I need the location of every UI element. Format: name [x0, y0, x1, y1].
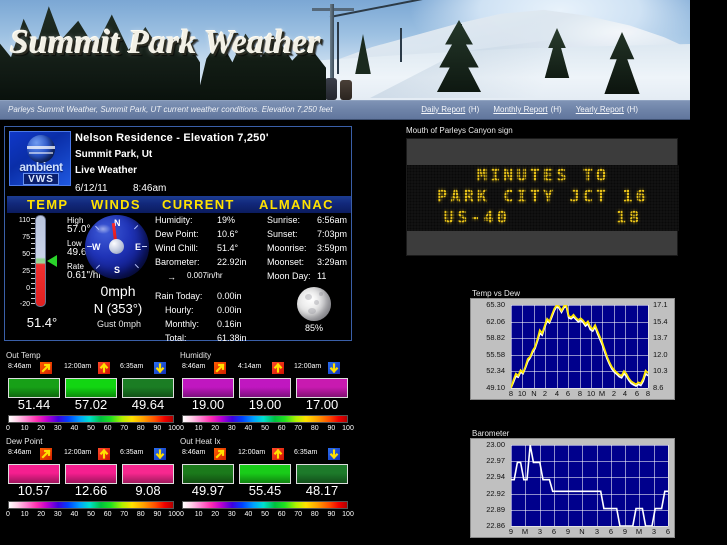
vws-live-weather-panel: ambient VWS Nelson Residence - Elevation… — [4, 126, 352, 341]
sunset-value: 7:03pm — [317, 229, 347, 239]
sunset-label: Sunset: — [267, 229, 298, 239]
gauge-tick: 0 — [1, 511, 15, 518]
moonset-label: Moonset: — [267, 257, 304, 267]
thermometer-scale-label: -20 — [20, 301, 30, 308]
rain-today-value: 0.00in — [217, 291, 242, 301]
daily-report-h[interactable]: (H) — [468, 105, 479, 114]
gauge-title: Dew Point — [6, 437, 42, 446]
moonrise-label: Moonrise: — [267, 243, 307, 253]
gauge-bar-2 — [122, 378, 174, 398]
gauge-bars — [180, 378, 350, 398]
site-description: Parleys Summit Weather, Summit Park, UT … — [8, 105, 332, 114]
gauge-tick: 10 — [192, 425, 206, 432]
wind-direction-value: N (353°) — [69, 301, 167, 316]
almanac-list: Sunrise:6:56am Sunset:7:03pm Moonrise:3:… — [267, 215, 357, 285]
gauge-tick: 100 — [341, 511, 355, 518]
gauge-scale-ticks: 0102030405060708090100 — [180, 511, 352, 521]
trend-up-right-icon — [214, 448, 226, 460]
barometer-trend-row: →0.007in/hr — [155, 271, 263, 285]
gauge-time-0: 8:46am — [182, 449, 205, 456]
gauge-timestamps: 8:46am12:00am6:35am — [180, 449, 350, 461]
chart-y2-tick: 10.3 — [653, 366, 668, 375]
chart-y2-tick: 8.6 — [653, 383, 663, 392]
current-row: Humidity:19% — [155, 215, 263, 229]
chart-x-tick: 9 — [563, 527, 573, 536]
gauge-time-2: 6:35am — [294, 449, 317, 456]
gauge-tick: 10 — [18, 511, 32, 518]
chart-series-line — [511, 305, 648, 388]
gauge-tick: 40 — [241, 425, 255, 432]
trend-down-icon — [154, 448, 166, 460]
compass-tick — [96, 265, 100, 269]
gauge-tick: 40 — [67, 425, 81, 432]
site-title: Summit Park Weather — [10, 24, 320, 62]
temperature-current-value: 51.4° — [11, 315, 73, 330]
chart-y-tick: 22.94 — [486, 472, 505, 481]
gauge-value-1: 57.02 — [65, 397, 117, 412]
gauge-tick: 20 — [34, 425, 48, 432]
current-row: Barometer:22.92in — [155, 257, 263, 271]
gauge-color-scale — [182, 501, 348, 509]
gauge-tick: 80 — [308, 511, 322, 518]
rain-row: Hourly:0.00in — [155, 305, 263, 319]
thermometer-indicator-arrow — [47, 255, 57, 267]
rain-row: Monthly:0.16in — [155, 319, 263, 333]
almanac-row: Moon Day:11 — [267, 271, 357, 285]
moon-illumination-percent: 85% — [287, 323, 341, 333]
humidity-value: 19% — [217, 215, 235, 225]
compass-hub — [109, 239, 124, 254]
rain-monthly-value: 0.16in — [217, 319, 242, 329]
gauge-tick: 0 — [175, 425, 189, 432]
chart-x-tick: 6 — [663, 527, 673, 536]
current-conditions-list: Humidity:19% Dew Point:10.6° Wind Chill:… — [155, 215, 263, 347]
moonset-value: 3:29am — [317, 257, 347, 267]
barometer-chart: 23.0022.9722.9422.9222.8922.869M369N369M… — [470, 438, 675, 538]
gauge-bar-0 — [8, 464, 60, 484]
chart-y-axis-labels: 65.3062.0658.8255.5852.3449.10 — [471, 305, 507, 388]
gauge-time-1: 12:00am — [64, 363, 91, 370]
gauge-tick: 70 — [117, 425, 131, 432]
column-header-current: CURRENT — [162, 197, 235, 212]
chart-y-tick: 62.06 — [486, 317, 505, 326]
column-header-bar: TEMP WINDS CURRENT ALMANAC — [7, 196, 351, 213]
moonday-label: Moon Day: — [267, 271, 311, 281]
almanac-row: Sunrise:6:56am — [267, 215, 357, 229]
windchill-label: Wind Chill: — [155, 243, 198, 253]
gauge-tick: 30 — [51, 425, 65, 432]
gauge-time-2: 12:00am — [294, 363, 321, 370]
chart-gridline — [668, 445, 669, 526]
thermometer-gauge: 1107550250-20 — [11, 215, 63, 315]
chairlift-hanger — [400, 28, 402, 62]
chart-x-tick: 9 — [506, 527, 516, 536]
chart-x-tick: 3 — [649, 527, 659, 536]
gauge-value-1: 12.66 — [65, 483, 117, 498]
gauge-tick: 70 — [291, 511, 305, 518]
chart-x-tick: 2 — [609, 389, 619, 398]
chart-y2-tick: 13.7 — [653, 333, 668, 342]
trend-down-icon — [328, 362, 340, 374]
gauge-values: 19.0019.0017.00 — [180, 397, 350, 413]
current-row: Wind Chill:51.4° — [155, 243, 263, 257]
trend-up-icon — [98, 448, 110, 460]
gauge-tick: 20 — [208, 425, 222, 432]
chart-y-tick: 52.34 — [486, 366, 505, 375]
gauge-value-0: 19.00 — [182, 397, 234, 412]
gauge-time-1: 12:00am — [238, 449, 265, 456]
gauge-bar-1 — [65, 378, 117, 398]
barometer-value: 22.92in — [217, 257, 247, 267]
rain-monthly-label: Monthly: — [165, 319, 199, 329]
gauge-title: Humidity — [180, 351, 211, 360]
gauge-color-scale — [8, 501, 174, 509]
chart-x-tick: 4 — [552, 389, 562, 398]
compass-west-label: W — [92, 242, 101, 252]
rain-hourly-value: 0.00in — [217, 305, 242, 315]
link-daily-report[interactable]: Daily Report — [421, 105, 465, 114]
column-header-temp: TEMP — [27, 197, 68, 212]
gauge-tick: 90 — [324, 425, 338, 432]
gauge-time-0: 8:46am — [8, 449, 31, 456]
chart-x-tick: 4 — [620, 389, 630, 398]
thermometer-scale: 1107550250-20 — [11, 217, 33, 305]
sunrise-value: 6:56am — [317, 215, 347, 225]
gauge-values: 51.4457.0249.64 — [6, 397, 176, 413]
trend-arrow-icon: → — [167, 272, 176, 282]
chart-x-tick: 2 — [540, 389, 550, 398]
gauge-panel: Out Heat Ix8:46am12:00am6:35am49.9755.45… — [180, 437, 352, 521]
gauge-timestamps: 8:46am12:00am6:35am — [6, 363, 176, 375]
live-weather-label: Live Weather — [75, 165, 137, 176]
chart-y-tick: 22.89 — [486, 505, 505, 514]
gauge-tick: 60 — [101, 511, 115, 518]
chart-x-tick: M — [597, 389, 607, 398]
chart-x-tick: 9 — [620, 527, 630, 536]
trend-down-icon — [328, 448, 340, 460]
gauge-values: 49.9755.4548.17 — [180, 483, 350, 499]
gauge-tick: 70 — [291, 425, 305, 432]
trend-up-icon — [272, 448, 284, 460]
gauge-tick: 60 — [275, 425, 289, 432]
trend-up-right-icon — [214, 362, 226, 374]
thermometer-scale-label: 50 — [22, 251, 30, 258]
gauge-scale-ticks: 0102030405060708090100 — [6, 511, 178, 521]
yearly-report-h[interactable]: (H) — [627, 105, 638, 114]
barometer-label: Barometer: — [155, 257, 200, 267]
gauge-tick: 40 — [67, 511, 81, 518]
chart-y-tick: 58.82 — [486, 333, 505, 342]
humidity-label: Humidity: — [155, 215, 193, 225]
chart-plot-area — [511, 305, 648, 388]
chart-y2-tick: 17.1 — [653, 300, 668, 309]
wind-gust-value: Gust 0mph — [73, 319, 165, 329]
chart-y-tick: 55.58 — [486, 350, 505, 359]
skier-rider — [340, 80, 352, 100]
compass-tick — [134, 225, 138, 229]
gauge-bar-2 — [296, 464, 348, 484]
chart-x-tick: N — [529, 389, 539, 398]
gauge-value-2: 17.00 — [296, 397, 348, 412]
sign-title: Mouth of Parleys Canyon sign — [406, 126, 513, 135]
wind-compass-gauge: N S W E — [85, 215, 149, 279]
gauge-tick: 100 — [341, 425, 355, 432]
globe-icon — [27, 135, 55, 163]
gauge-scale-ticks: 0102030405060708090100 — [180, 425, 352, 435]
gauge-tick: 80 — [308, 425, 322, 432]
gauge-tick: 90 — [150, 511, 164, 518]
chart-x-axis-labels: 9M369N369M36 — [511, 527, 668, 538]
chart-x-axis-labels: 810N246810M2468 — [511, 389, 648, 400]
temp-vs-dew-chart: 65.3062.0658.8255.5852.3449.1017.115.413… — [470, 298, 675, 400]
trend-up-right-icon — [40, 362, 52, 374]
gauge-time-1: 12:00am — [64, 449, 91, 456]
gauge-value-2: 49.64 — [122, 397, 174, 412]
rain-today-label: Rain Today: — [155, 291, 202, 301]
chart-x-tick: 8 — [575, 389, 585, 398]
subtitle-bar: Parleys Summit Weather, Summit Park, UT … — [0, 100, 690, 120]
led-display: MINUTES TO PARK CITY JCT 16 US-40 18 — [407, 165, 679, 231]
gauge-panel: Humidity8:46am4:14am12:00am19.0019.0017.… — [180, 351, 352, 435]
chart-x-tick: 6 — [606, 527, 616, 536]
chart-series-line — [511, 445, 668, 526]
thermometer-scale-label: 75 — [22, 234, 30, 241]
gauge-tick: 50 — [258, 511, 272, 518]
ambient-vws-logo: ambient VWS — [9, 131, 71, 186]
rain-total-value: 61.38in — [217, 333, 247, 343]
link-yearly-report[interactable]: Yearly Report — [576, 105, 624, 114]
gauge-title: Out Heat Ix — [180, 437, 220, 446]
ski-lift-tower — [330, 4, 334, 86]
parleys-canyon-sign: MINUTES TO PARK CITY JCT 16 US-40 18 — [406, 138, 678, 256]
gauge-value-1: 19.00 — [239, 397, 291, 412]
wind-speed-value: 0mph — [77, 283, 159, 299]
chart-y-tick: 22.97 — [486, 456, 505, 465]
compass-tick — [135, 264, 139, 268]
chart-x-tick: 8 — [506, 389, 516, 398]
gauge-color-scale — [8, 415, 174, 423]
trend-up-right-icon — [40, 448, 52, 460]
chart-y-axis-labels: 23.0022.9722.9422.9222.8922.86 — [471, 445, 507, 526]
gauge-bar-1 — [239, 378, 291, 398]
chart-x-tick: 10 — [586, 389, 596, 398]
compass-east-label: E — [135, 242, 141, 252]
chart-y-tick: 23.00 — [486, 440, 505, 449]
chart-y-tick: 49.10 — [486, 383, 505, 392]
gauge-tick: 20 — [208, 511, 222, 518]
gauge-time-1: 4:14am — [238, 363, 261, 370]
chart-x-tick: 3 — [535, 527, 545, 536]
gauge-value-0: 49.97 — [182, 483, 234, 498]
gauge-tick: 80 — [134, 425, 148, 432]
page-root: Summit Park Weather Parleys Summit Weath… — [0, 0, 727, 545]
led-line-3: US-40 18 — [407, 208, 679, 228]
chart-y-tick: 65.30 — [486, 300, 505, 309]
observation-time: 8:46am — [133, 183, 166, 194]
chart-x-tick: 6 — [563, 389, 573, 398]
almanac-row: Sunset:7:03pm — [267, 229, 357, 243]
moonrise-value: 3:59pm — [317, 243, 347, 253]
chart-y2-tick: 12.0 — [653, 350, 668, 359]
trend-down-icon — [154, 362, 166, 374]
chart-x-tick: 10 — [517, 389, 527, 398]
gauge-tick: 0 — [175, 511, 189, 518]
gauge-bar-2 — [122, 464, 174, 484]
gauge-bars — [6, 464, 176, 484]
almanac-row: Moonrise:3:59pm — [267, 243, 357, 257]
gauge-bar-1 — [239, 464, 291, 484]
gauge-color-scale — [182, 415, 348, 423]
gauge-time-0: 8:46am — [8, 363, 31, 370]
barometer-trend-value: 0.007in/hr — [187, 271, 223, 280]
gauge-tick: 10 — [18, 425, 32, 432]
gauge-tick: 50 — [84, 425, 98, 432]
gauge-scale-ticks: 0102030405060708090100 — [6, 425, 178, 435]
gauge-value-2: 48.17 — [296, 483, 348, 498]
link-monthly-report[interactable]: Monthly Report — [493, 105, 547, 114]
gauge-value-1: 55.45 — [239, 483, 291, 498]
chart-x-tick: M — [634, 527, 644, 536]
gauge-tick: 50 — [84, 511, 98, 518]
chart-title-barometer: Barometer — [472, 429, 509, 438]
rain-row: Total:61.38in — [155, 333, 263, 347]
moonday-value: 11 — [317, 271, 326, 281]
led-line-2: PARK CITY JCT 16 — [407, 187, 679, 207]
chart-x-tick: N — [577, 527, 587, 536]
chart-y2-tick: 15.4 — [653, 317, 668, 326]
trend-up-icon — [272, 362, 284, 374]
skier-rider — [325, 78, 337, 100]
windchill-value: 51.4° — [217, 243, 238, 253]
station-name: Nelson Residence - Elevation 7,250' — [75, 132, 269, 144]
thermometer-tube — [35, 215, 46, 307]
gauge-tick: 10 — [192, 511, 206, 518]
compass-dash-east — [142, 246, 147, 247]
gauge-bar-0 — [182, 378, 234, 398]
chart-x-tick: 6 — [549, 527, 559, 536]
chart-x-tick: 6 — [632, 389, 642, 398]
gauge-panel: Out Temp8:46am12:00am6:35am51.4457.0249.… — [6, 351, 178, 435]
gauge-bar-0 — [182, 464, 234, 484]
gauge-time-2: 6:35am — [120, 363, 143, 370]
gauge-timestamps: 8:46am12:00am6:35am — [6, 449, 176, 461]
dewpoint-value: 10.6° — [217, 229, 238, 239]
current-row: Dew Point:10.6° — [155, 229, 263, 243]
gauge-tick: 80 — [134, 511, 148, 518]
chart-x-tick: 3 — [592, 527, 602, 536]
thermometer-scale-label: 110 — [19, 217, 30, 224]
compass-south-label: S — [114, 265, 120, 275]
rain-hourly-label: Hourly: — [165, 305, 194, 315]
gauge-tick: 90 — [150, 425, 164, 432]
report-links: Daily Report(H)Monthly Report(H)Yearly R… — [421, 105, 638, 114]
gauge-time-0: 8:46am — [182, 363, 205, 370]
gauge-bar-0 — [8, 378, 60, 398]
station-location: Summit Park, Ut — [75, 149, 152, 160]
thermometer-scale-label: 0 — [26, 285, 30, 292]
monthly-report-h[interactable]: (H) — [551, 105, 562, 114]
sunrise-label: Sunrise: — [267, 215, 300, 225]
gauge-tick: 90 — [324, 511, 338, 518]
gauge-tick: 60 — [275, 511, 289, 518]
gauge-value-2: 9.08 — [122, 483, 174, 498]
chart-x-tick: 8 — [643, 389, 653, 398]
gauge-bar-1 — [65, 464, 117, 484]
chairlift-hanger — [337, 22, 339, 74]
gauge-time-2: 6:35am — [120, 449, 143, 456]
chart-plot-area — [511, 445, 668, 526]
gauge-tick: 30 — [51, 511, 65, 518]
thermometer-scale-label: 25 — [22, 268, 30, 275]
gauge-value-0: 51.44 — [8, 397, 60, 412]
rain-total-label: Total: — [165, 333, 187, 343]
logo-brand-text: ambient — [10, 160, 71, 174]
logo-vws-badge: VWS — [23, 173, 59, 185]
observation-date: 6/12/11 — [75, 183, 108, 194]
gauge-tick: 30 — [225, 511, 239, 518]
column-header-almanac: ALMANAC — [259, 197, 334, 212]
led-line-1: MINUTES TO — [407, 166, 679, 186]
rain-row: Rain Today:0.00in — [155, 291, 263, 305]
chart-y-tick: 22.86 — [486, 521, 505, 530]
gauge-value-0: 10.57 — [8, 483, 60, 498]
chart-y2-axis-labels: 17.115.413.712.010.38.6 — [651, 305, 675, 388]
gauge-bar-2 — [296, 378, 348, 398]
gauge-values: 10.5712.669.08 — [6, 483, 176, 499]
gauge-tick: 70 — [117, 511, 131, 518]
dewpoint-label: Dew Point: — [155, 229, 199, 239]
gauge-tick: 30 — [225, 425, 239, 432]
chart-title-temp-vs-dew: Temp vs Dew — [472, 289, 520, 298]
gauge-tick: 50 — [258, 425, 272, 432]
gauge-title: Out Temp — [6, 351, 41, 360]
trend-up-icon — [98, 362, 110, 374]
gauge-tick: 40 — [241, 511, 255, 518]
chart-y-tick: 22.92 — [486, 489, 505, 498]
column-header-winds: WINDS — [91, 197, 141, 212]
almanac-row: Moonset:3:29am — [267, 257, 357, 271]
gauge-tick: 60 — [101, 425, 115, 432]
chart-x-tick: M — [520, 527, 530, 536]
gauge-tick: 20 — [34, 511, 48, 518]
gauge-bars — [180, 464, 350, 484]
gauge-bars — [6, 378, 176, 398]
gauge-timestamps: 8:46am4:14am12:00am — [180, 363, 350, 375]
site-banner: Summit Park Weather — [0, 0, 690, 100]
chart-gridline — [648, 305, 649, 388]
gauge-tick: 0 — [1, 425, 15, 432]
gauge-panel: Dew Point8:46am12:00am6:35am10.5712.669.… — [6, 437, 178, 521]
moon-phase-icon — [297, 287, 331, 321]
